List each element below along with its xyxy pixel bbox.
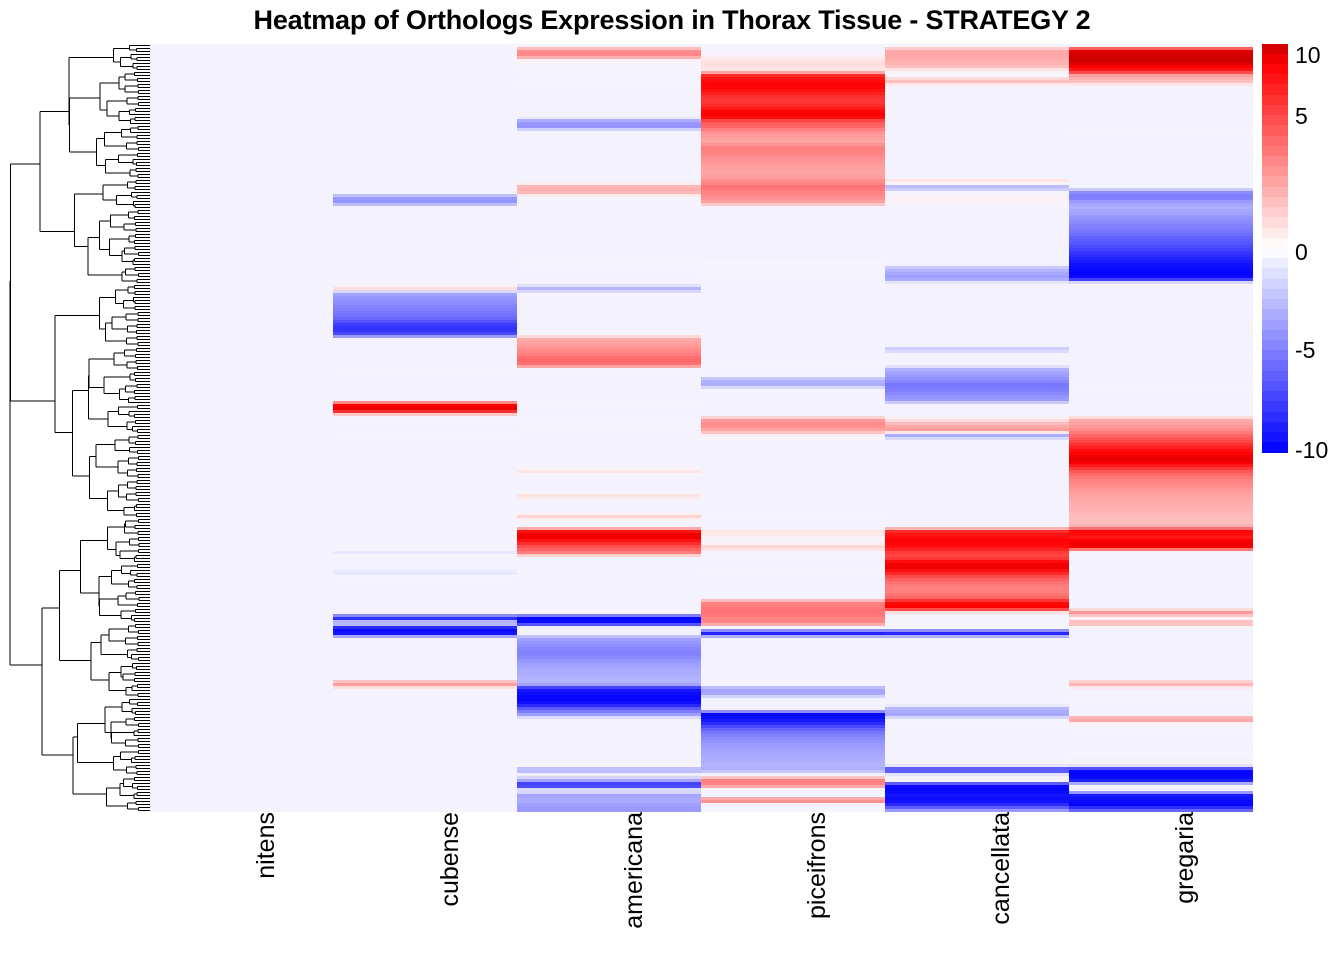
row-dendrogram-svg (4, 44, 150, 812)
column-label-americana: americana (622, 812, 646, 960)
page-title: Heatmap of Orthologs Expression in Thora… (0, 5, 1344, 36)
column-axis-labels: nitenscubenseamericanapiceifronscancella… (150, 812, 1253, 960)
column-label-cancellata: cancellata (989, 812, 1013, 960)
column-label-cubense: cubense (438, 812, 462, 960)
colorbar-tick-label: -10 (1295, 439, 1328, 462)
row-dendrogram (4, 44, 150, 812)
colorbar: 1050-5-10 (1262, 44, 1344, 474)
colorbar-gradient (1262, 44, 1288, 453)
colorbar-tick-label: 0 (1295, 241, 1308, 264)
heatmap-cells (150, 44, 1253, 812)
column-label-piceifrons: piceifrons (805, 812, 829, 960)
colorbar-gradient-canvas (1262, 44, 1288, 453)
colorbar-tick-label: 10 (1295, 44, 1321, 67)
colorbar-tick-label: 5 (1295, 105, 1308, 128)
column-label-gregaria: gregaria (1173, 812, 1197, 960)
heatmap-grid (150, 44, 1253, 812)
colorbar-tick-label: -5 (1295, 339, 1315, 362)
dendrogram-links (10, 46, 150, 811)
column-label-nitens: nitens (254, 812, 278, 960)
heatmap-figure: Heatmap of Orthologs Expression in Thora… (0, 0, 1344, 960)
